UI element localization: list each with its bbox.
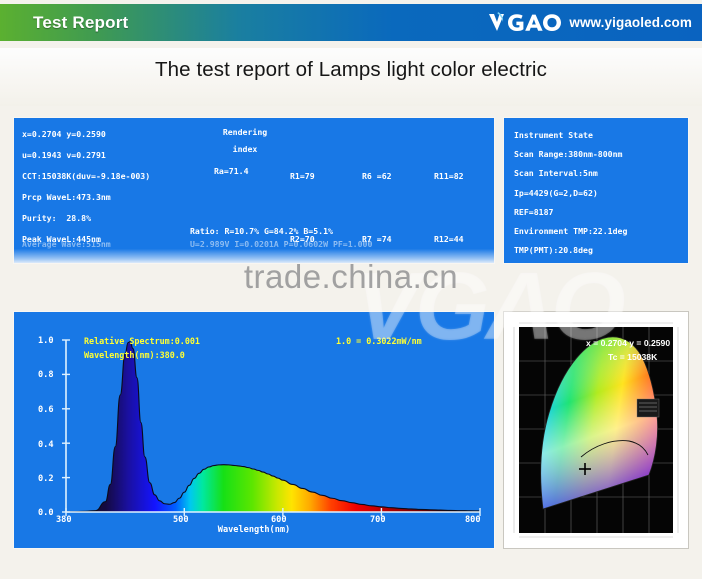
header-brand-group: www.yigaoled.com [487,11,692,35]
cut-off-row: Average Wave:515nm U=2.989V I=0.0201A P=… [14,241,494,263]
ri-value: R6 =62 [362,166,392,187]
colorimetry-line: x=0.2704 y=0.2590 [22,124,150,145]
colorimetry-line: CCT:15038K(duv=-9.18e-003) [22,166,150,187]
page-title: The test report of Lamps light color ele… [0,58,702,82]
vgao-logo-icon [487,11,561,35]
page-footer-band [0,551,702,579]
rendering-index-heading-line2: index [210,141,280,158]
ra-value: Ra=71.4 [214,166,249,176]
y-tick-label: 0.4 [38,440,54,450]
x-tick-label: 500 [173,515,189,525]
cie-tc-readout: Tc = 15038K [608,352,657,362]
trade-watermark: trade.china.cn [0,258,702,296]
x-tick-label: 380 [56,515,72,525]
scale-readout: 1.0 = 0.3022mW/nm [336,336,422,346]
y-tick-label: 0.8 [38,370,54,380]
instrument-state-line: Ip=4429(G=2,D=62) [514,184,627,203]
ri-value: R1=79 [290,166,315,187]
relative-spectrum-readout: Relative Spectrum:0.001 [84,336,200,346]
colorimetry-line: Purity: 28.8% [22,208,150,229]
y-tick-label: 0.0 [38,508,54,518]
cie-xy-readout: x = 0.2704 y = 0.2590 [586,338,670,348]
x-tick-label: 700 [370,515,386,525]
x-tick-label: 800 [465,515,481,525]
wavelength-readout: Wavelength(nm):380.0 [84,350,185,360]
instrument-state-list: Instrument State Scan Range:380nm-800nm … [514,126,627,260]
ri-value: R11=82 [434,166,464,187]
spectral-power-distribution-chart: 1.0 0.8 0.6 0.4 0.2 0.0 380 500 600 700 … [14,312,494,548]
app-header: Test Report www.yigaoled.com [0,4,702,41]
y-tick-label: 0.2 [38,474,54,484]
y-tick-label: 0.6 [38,405,54,415]
rgb-ratio-line: Ratio: R=10.7% G=84.2% B=5.1% [190,226,333,236]
instrument-state-title: Instrument State [514,126,627,145]
rendering-index-heading: Rendering index [210,124,280,158]
colorimetry-values: x=0.2704 y=0.2590 u=0.1943 v=0.2791 CCT:… [22,124,150,250]
electrical-values: U=2.989V I=0.0201A P=0.0602W PF=1.000 [190,241,372,249]
measurement-results-panel: x=0.2704 y=0.2590 u=0.1943 v=0.2791 CCT:… [14,118,494,263]
average-wave-value: Average Wave:515nm [22,241,111,249]
colorimetry-line: Prcp WaveL:473.3nm [22,187,150,208]
rendering-index-heading-line1: Rendering [210,124,280,141]
y-tick-label: 1.0 [38,336,54,346]
cie-chromaticity-panel: x = 0.2704 y = 0.2590 Tc = 15038K [504,312,688,548]
cie-diagram-svg [509,317,683,543]
x-tick-label: 600 [271,515,287,525]
header-title: Test Report [33,13,128,33]
header-website-link[interactable]: www.yigaoled.com [569,15,692,30]
spectrum-area [66,342,480,512]
colorimetry-line: u=0.1943 v=0.2791 [22,145,150,166]
x-axis-title: Wavelength(nm) [14,525,494,535]
instrument-state-line: REF=8187 [514,203,627,222]
instrument-state-line: Scan Interval:5nm [514,164,627,183]
spectrum-plot-svg [14,312,494,548]
instrument-state-line: TMP(PMT):20.8deg [514,241,627,260]
instrument-state-panel: Instrument State Scan Range:380nm-800nm … [504,118,688,263]
instrument-state-line: Environment TMP:22.1deg [514,222,627,241]
instrument-state-line: Scan Range:380nm-800nm [514,145,627,164]
